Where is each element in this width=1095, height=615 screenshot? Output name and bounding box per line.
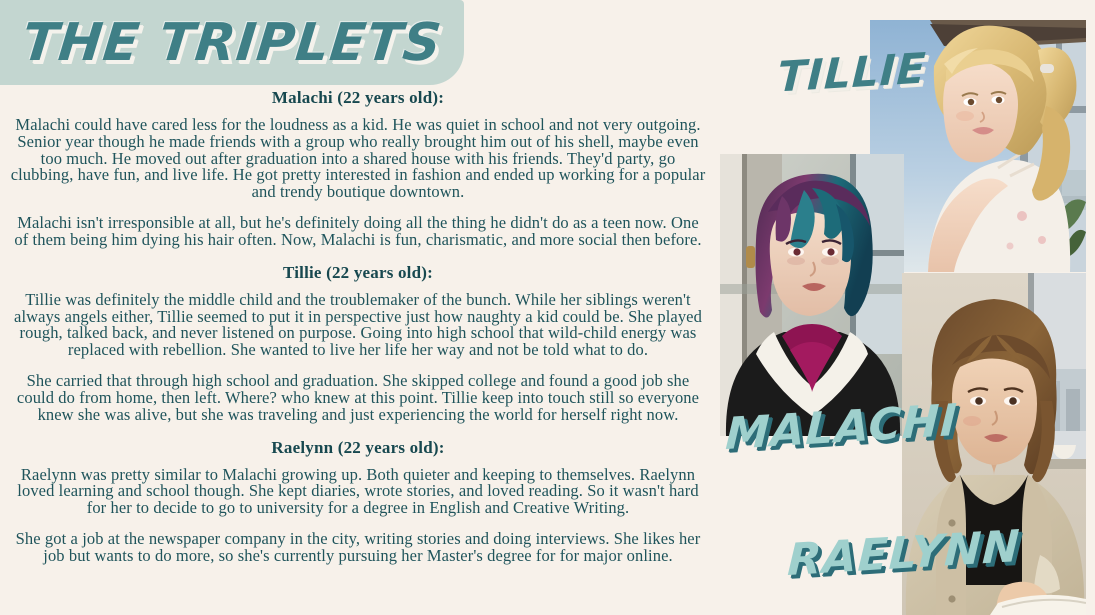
- photo-malachi: [720, 154, 904, 436]
- section-heading-tillie: Tillie (22 years old):: [6, 263, 710, 283]
- paragraph-malachi-1: Malachi could have cared less for the lo…: [6, 117, 710, 201]
- paragraph-raelynn-2: She got a job at the newspaper company i…: [6, 531, 710, 565]
- section-heading-malachi: Malachi (22 years old):: [6, 88, 710, 108]
- name-label-tillie: TILLIE: [777, 44, 928, 102]
- paragraph-tillie-1: Tillie was definitely the middle child a…: [6, 292, 710, 359]
- character-profile-page: THE TRIPLETS Malachi (22 years old): Mal…: [0, 0, 1095, 615]
- paragraph-malachi-2: Malachi isn't irresponsible at all, but …: [6, 215, 710, 249]
- paragraph-tillie-2: She carried that through high school and…: [6, 373, 710, 423]
- profile-text-column: Malachi (22 years old): Malachi could ha…: [0, 88, 716, 579]
- paragraph-raelynn-1: Raelynn was pretty similar to Malachi gr…: [6, 467, 710, 517]
- page-title: THE TRIPLETS: [0, 0, 468, 85]
- section-heading-raelynn: Raelynn (22 years old):: [6, 438, 710, 458]
